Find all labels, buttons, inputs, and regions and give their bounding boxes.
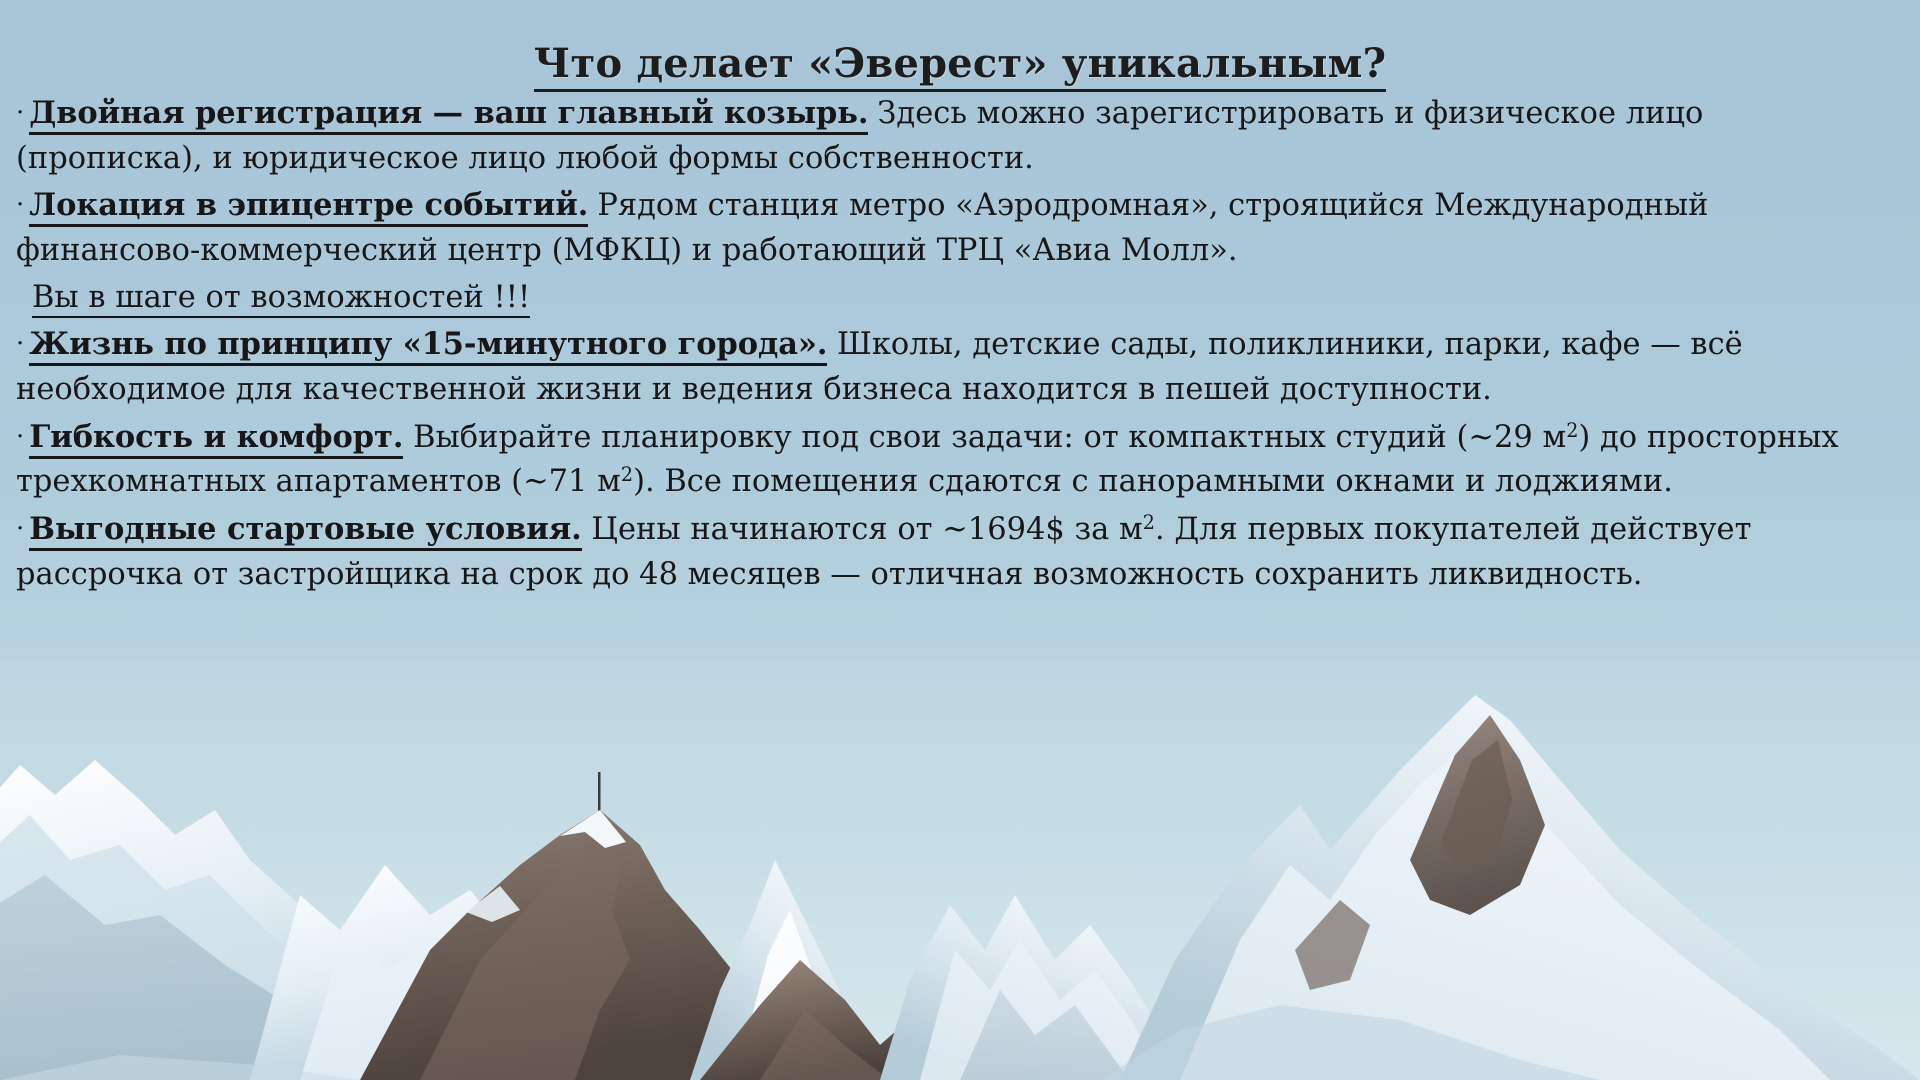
mountain-range-photo [0, 660, 1920, 1080]
page-title: Что делает «Эверест» уникальным? [0, 0, 1920, 91]
list-item-lead: Двойная регистрация — ваш главный козырь… [29, 95, 868, 135]
list-item-15-minute-city: ·Жизнь по принципу «15-минутного города»… [16, 322, 1892, 412]
bullet-marker-icon: · [16, 514, 24, 544]
callout-line: Вы в шаге от возможностей !!! [16, 276, 1892, 321]
feature-list: ·Двойная регистрация — ваш главный козыр… [0, 91, 1920, 597]
slide-content: Что делает «Эверест» уникальным? ·Двойна… [0, 0, 1920, 599]
list-item-flexibility-comfort: ·Гибкость и комфорт. Выбирайте планировк… [16, 415, 1892, 505]
bullet-marker-icon: · [16, 329, 24, 359]
page-title-text: Что делает «Эверест» уникальным? [534, 40, 1387, 92]
list-item-lead: Выгодные стартовые условия. [29, 511, 581, 551]
list-item-body-c: ). Все помещения сдаются с панорамными о… [633, 464, 1673, 499]
list-item-starting-conditions: ·Выгодные стартовые условия. Цены начина… [16, 507, 1892, 597]
list-item-lead: Локация в эпицентре событий. [29, 187, 588, 227]
bullet-marker-icon: · [16, 422, 24, 452]
presentation-slide: Что делает «Эверест» уникальным? ·Двойна… [0, 0, 1920, 1080]
list-item-body-a: Выбирайте планировку под свои задачи: от… [413, 420, 1566, 455]
list-item-dual-registration: ·Двойная регистрация — ваш главный козыр… [16, 91, 1892, 181]
superscript-square-meters: 2 [1143, 511, 1155, 534]
bullet-marker-icon: · [16, 190, 24, 220]
list-item-body-a: Цены начинаются от ~1694$ за м [591, 512, 1142, 547]
superscript-square-meters: 2 [621, 463, 633, 486]
callout-text: Вы в шаге от возможностей !!! [32, 280, 530, 318]
list-item-location: ·Локация в эпицентре событий.Рядом станц… [16, 183, 1892, 273]
list-item-lead: Гибкость и комфорт. [29, 419, 403, 459]
list-item-lead: Жизнь по принципу «15-минутного города». [29, 326, 827, 366]
superscript-square-meters: 2 [1566, 419, 1578, 442]
bullet-marker-icon: · [16, 98, 24, 128]
